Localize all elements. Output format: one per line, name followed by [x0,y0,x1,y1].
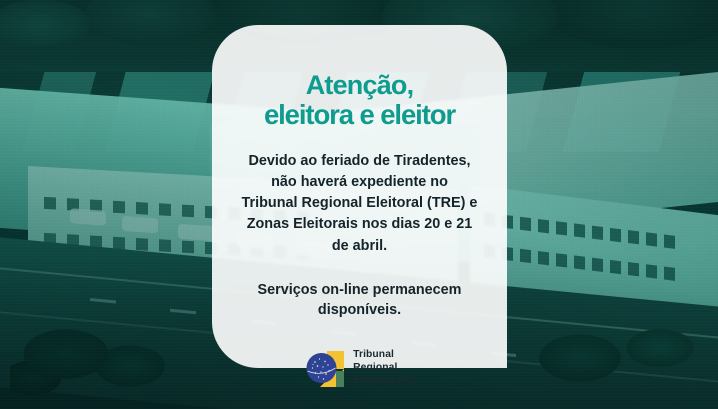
logo-wordmark: Tribunal Regional Eleitoral-RO [353,349,414,387]
body-line-3: Tribunal Regional Eleitoral (TRE) e [242,195,478,211]
body-line-2-emphasis: não haverá expediente [271,174,426,190]
announcement-card: Atenção, eleitora e eleitor Devido ao fe… [212,25,507,368]
secondary-line-1: Serviços on-line permanecem [258,282,462,298]
secondary-paragraph: Serviços on-line permanecem disponíveis. [258,280,462,321]
body-line-4: Zonas Eleitorais nos dias 20 e 21 [247,216,473,232]
body-line-1: Devido ao feriado de Tiradentes, [248,153,470,169]
logo-line-2: Regional [353,362,414,375]
logo-line-1: Tribunal [353,349,414,362]
poster-canvas: Atenção, eleitora e eleitor Devido ao fe… [0,0,718,409]
tre-ro-logo: Tribunal Regional Eleitoral-RO [305,348,414,390]
secondary-line-2: disponíveis. [318,302,401,318]
brazilian-government-emblem-icon [305,348,346,390]
body-line-2-rest: no [426,174,448,190]
logo-line-3: Eleitoral-RO [353,375,414,388]
headline: Atenção, eleitora e eleitor [264,71,455,130]
body-paragraph: Devido ao feriado de Tiradentes, não hav… [242,151,478,257]
body-line-5-emphasis: de abril. [332,238,387,254]
headline-line-2: eleitora e eleitor [264,100,455,130]
headline-line-1: Atenção, [306,70,414,100]
